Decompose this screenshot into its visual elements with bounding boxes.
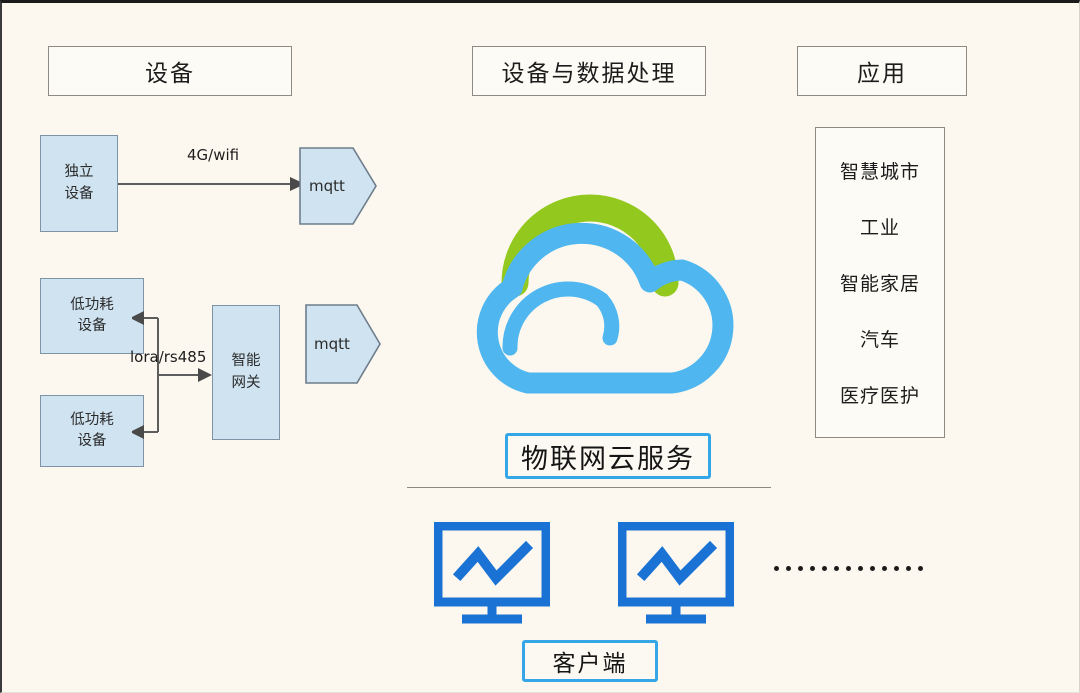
cloud-service-caption: 物联网云服务 xyxy=(505,433,711,479)
client-ellipsis xyxy=(774,566,923,571)
device-label-line2: 设备 xyxy=(78,431,107,452)
client-caption: 客户端 xyxy=(522,640,658,682)
device-label-line1: 智能 xyxy=(232,351,261,372)
connector-label-wireless-link: 4G/wifi xyxy=(187,146,239,164)
connector-label-wired-link: lora/rs485 xyxy=(130,348,206,366)
section-divider xyxy=(407,487,771,488)
ellipsis-dot xyxy=(858,566,863,571)
ellipsis-dot xyxy=(834,566,839,571)
mqtt-label-bottom: mqtt xyxy=(305,335,381,353)
ellipsis-dot xyxy=(870,566,875,571)
cloud-service-caption-label: 物联网云服务 xyxy=(521,437,695,476)
application-item-2: 智能家居 xyxy=(840,269,920,296)
ellipsis-dot xyxy=(798,566,803,571)
client-caption-label: 客户端 xyxy=(553,644,628,678)
device-box-low-power-device-1: 低功耗 设备 xyxy=(40,278,144,354)
application-item-3: 汽车 xyxy=(860,325,900,352)
device-label-line1: 低功耗 xyxy=(70,410,114,431)
ellipsis-dot xyxy=(786,566,791,571)
device-label-line2: 设备 xyxy=(65,184,94,205)
section-header-application: 应用 xyxy=(797,46,967,96)
monitor-chart-icon-2 xyxy=(618,522,734,624)
mqtt-label-top: mqtt xyxy=(299,177,377,195)
ellipsis-dot xyxy=(822,566,827,571)
application-item-0: 智慧城市 xyxy=(840,157,920,184)
device-label-line2: 设备 xyxy=(78,316,107,337)
ellipsis-dot xyxy=(882,566,887,571)
diagram-canvas: 设备 设备与数据处理 应用 独立 设备 低功耗 设备 低功耗 设备 智能 网关 … xyxy=(0,0,1080,693)
section-header-device-and-data: 设备与数据处理 xyxy=(472,46,706,96)
section-header-application-label: 应用 xyxy=(857,54,907,88)
ellipsis-dot xyxy=(774,566,779,571)
device-label-line1: 低功耗 xyxy=(70,295,114,316)
mqtt-shape-top: mqtt xyxy=(299,147,377,225)
application-list: 智慧城市 工业 智能家居 汽车 医疗医护 xyxy=(815,127,945,438)
ellipsis-dot xyxy=(894,566,899,571)
application-item-1: 工业 xyxy=(860,213,900,240)
section-header-device-label: 设备 xyxy=(145,54,195,88)
ellipsis-dot xyxy=(918,566,923,571)
cloud-icon xyxy=(450,188,750,398)
ellipsis-dot xyxy=(846,566,851,571)
application-item-4: 医疗医护 xyxy=(840,381,920,408)
section-header-device-and-data-label: 设备与数据处理 xyxy=(502,54,677,88)
connector-lowpower-gateway-tree xyxy=(132,308,232,443)
ellipsis-dot xyxy=(810,566,815,571)
device-box-low-power-device-2: 低功耗 设备 xyxy=(40,395,144,467)
monitor-chart-icon-1 xyxy=(434,522,550,624)
device-box-standalone-device: 独立 设备 xyxy=(40,135,118,232)
device-label-line2: 网关 xyxy=(232,373,261,394)
mqtt-shape-bottom: mqtt xyxy=(305,304,381,384)
device-label-line1: 独立 xyxy=(65,162,94,183)
ellipsis-dot xyxy=(906,566,911,571)
section-header-device: 设备 xyxy=(48,46,292,96)
